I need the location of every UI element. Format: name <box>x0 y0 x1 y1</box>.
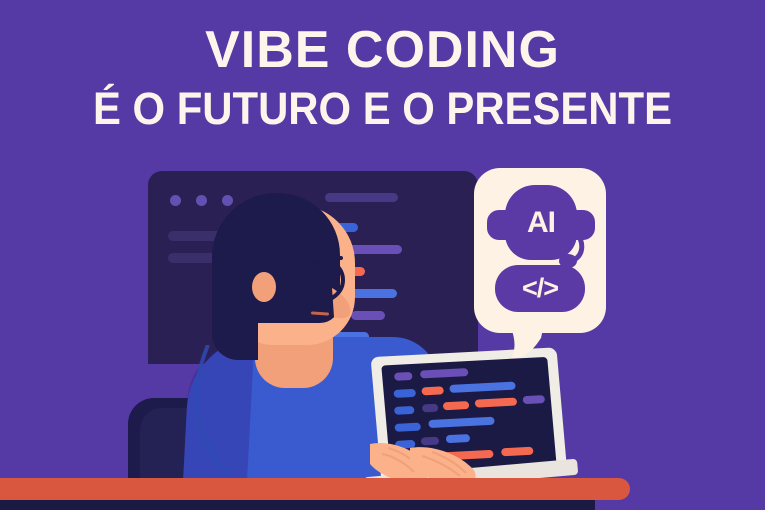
person-hair-side <box>212 250 258 360</box>
code-line <box>475 397 518 407</box>
poster-canvas: VIBE CODING É O FUTURO E O PRESENTE AI <box>0 0 765 510</box>
code-line <box>501 447 534 457</box>
code-line <box>428 417 495 428</box>
code-brackets-icon: </> <box>495 265 585 312</box>
sleeve-fold-line <box>150 345 270 495</box>
code-line <box>421 386 444 395</box>
title-main: VIBE CODING <box>0 24 765 76</box>
ai-label: AI <box>505 185 577 260</box>
code-line <box>394 372 413 381</box>
code-line <box>443 401 470 410</box>
person-eye <box>317 276 329 291</box>
code-line <box>325 193 398 202</box>
window-dot-yellow-icon <box>196 195 207 206</box>
code-line <box>422 404 439 413</box>
person-ear <box>252 272 276 302</box>
title-subtitle: É O FUTURO E O PRESENTE <box>27 85 738 132</box>
window-dot-red-icon <box>170 195 181 206</box>
headline-block: VIBE CODING É O FUTURO E O PRESENTE <box>0 24 765 132</box>
code-line <box>393 389 416 398</box>
code-line <box>394 423 421 432</box>
speech-bubble-tail <box>501 320 547 362</box>
window-dot-green-icon <box>222 195 233 206</box>
code-line <box>394 406 415 415</box>
desk-surface <box>0 478 630 500</box>
code-line <box>420 368 469 378</box>
code-line <box>449 382 516 393</box>
code-line <box>522 395 545 404</box>
